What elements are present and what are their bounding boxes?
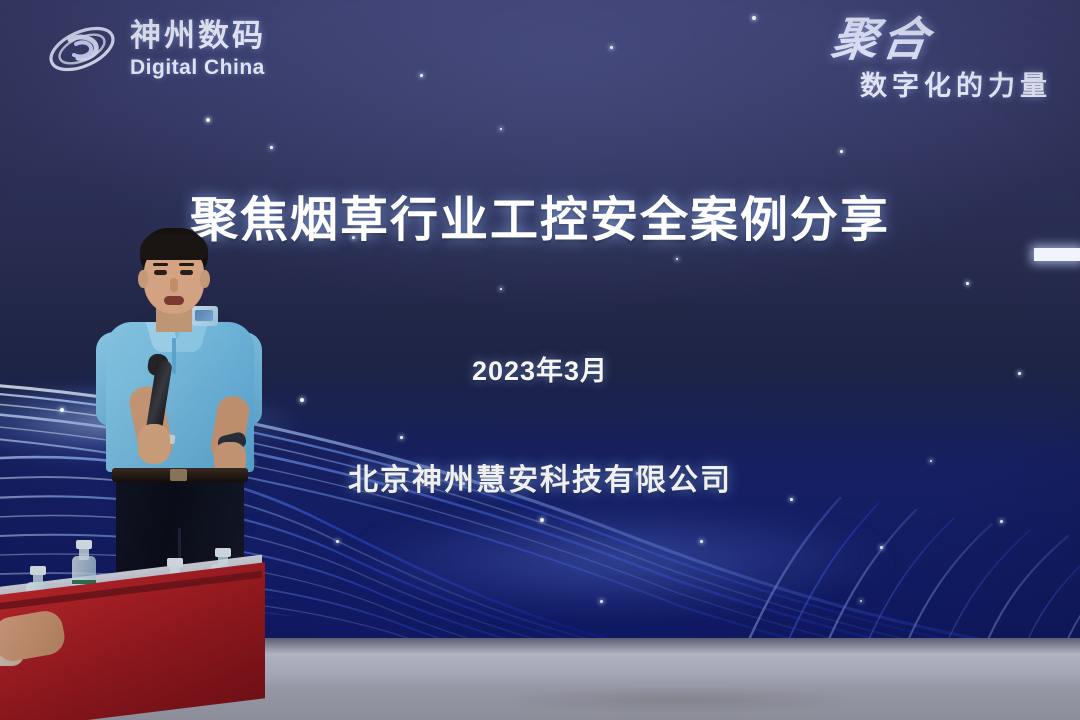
event-slogan: 聚合 数字化的力量	[832, 18, 1052, 103]
speaker-eyebrow-left	[153, 263, 168, 266]
shirt-placket	[172, 338, 176, 374]
belt-buckle	[170, 469, 187, 481]
speaker-eyebrow-right	[179, 263, 194, 266]
digital-china-logo: 神州数码 Digital China	[46, 18, 266, 80]
speaker-eye-left	[154, 270, 167, 275]
speaker-eye-right	[180, 270, 193, 275]
shirt-badge-logo-icon	[195, 310, 213, 321]
speaker-ear-left	[138, 270, 148, 288]
speaker-hand-left	[138, 424, 170, 464]
speaker-hair-fringe	[140, 234, 208, 260]
swirl-logo-icon	[46, 18, 118, 80]
speaker-ear-right	[200, 270, 210, 288]
slogan-subtitle: 数字化的力量	[832, 64, 1052, 103]
floor-reflection	[420, 680, 940, 720]
photo-canvas: 神州数码 Digital China 聚合 数字化的力量 聚焦烟草行业工控安全案…	[0, 0, 1080, 720]
brand-name-en: Digital China	[130, 57, 266, 78]
speaker-mouth	[164, 296, 184, 305]
brand-name-cn: 神州数码	[130, 20, 266, 51]
slogan-calligraphy: 聚合	[829, 18, 935, 62]
speaker-nose	[170, 278, 178, 292]
